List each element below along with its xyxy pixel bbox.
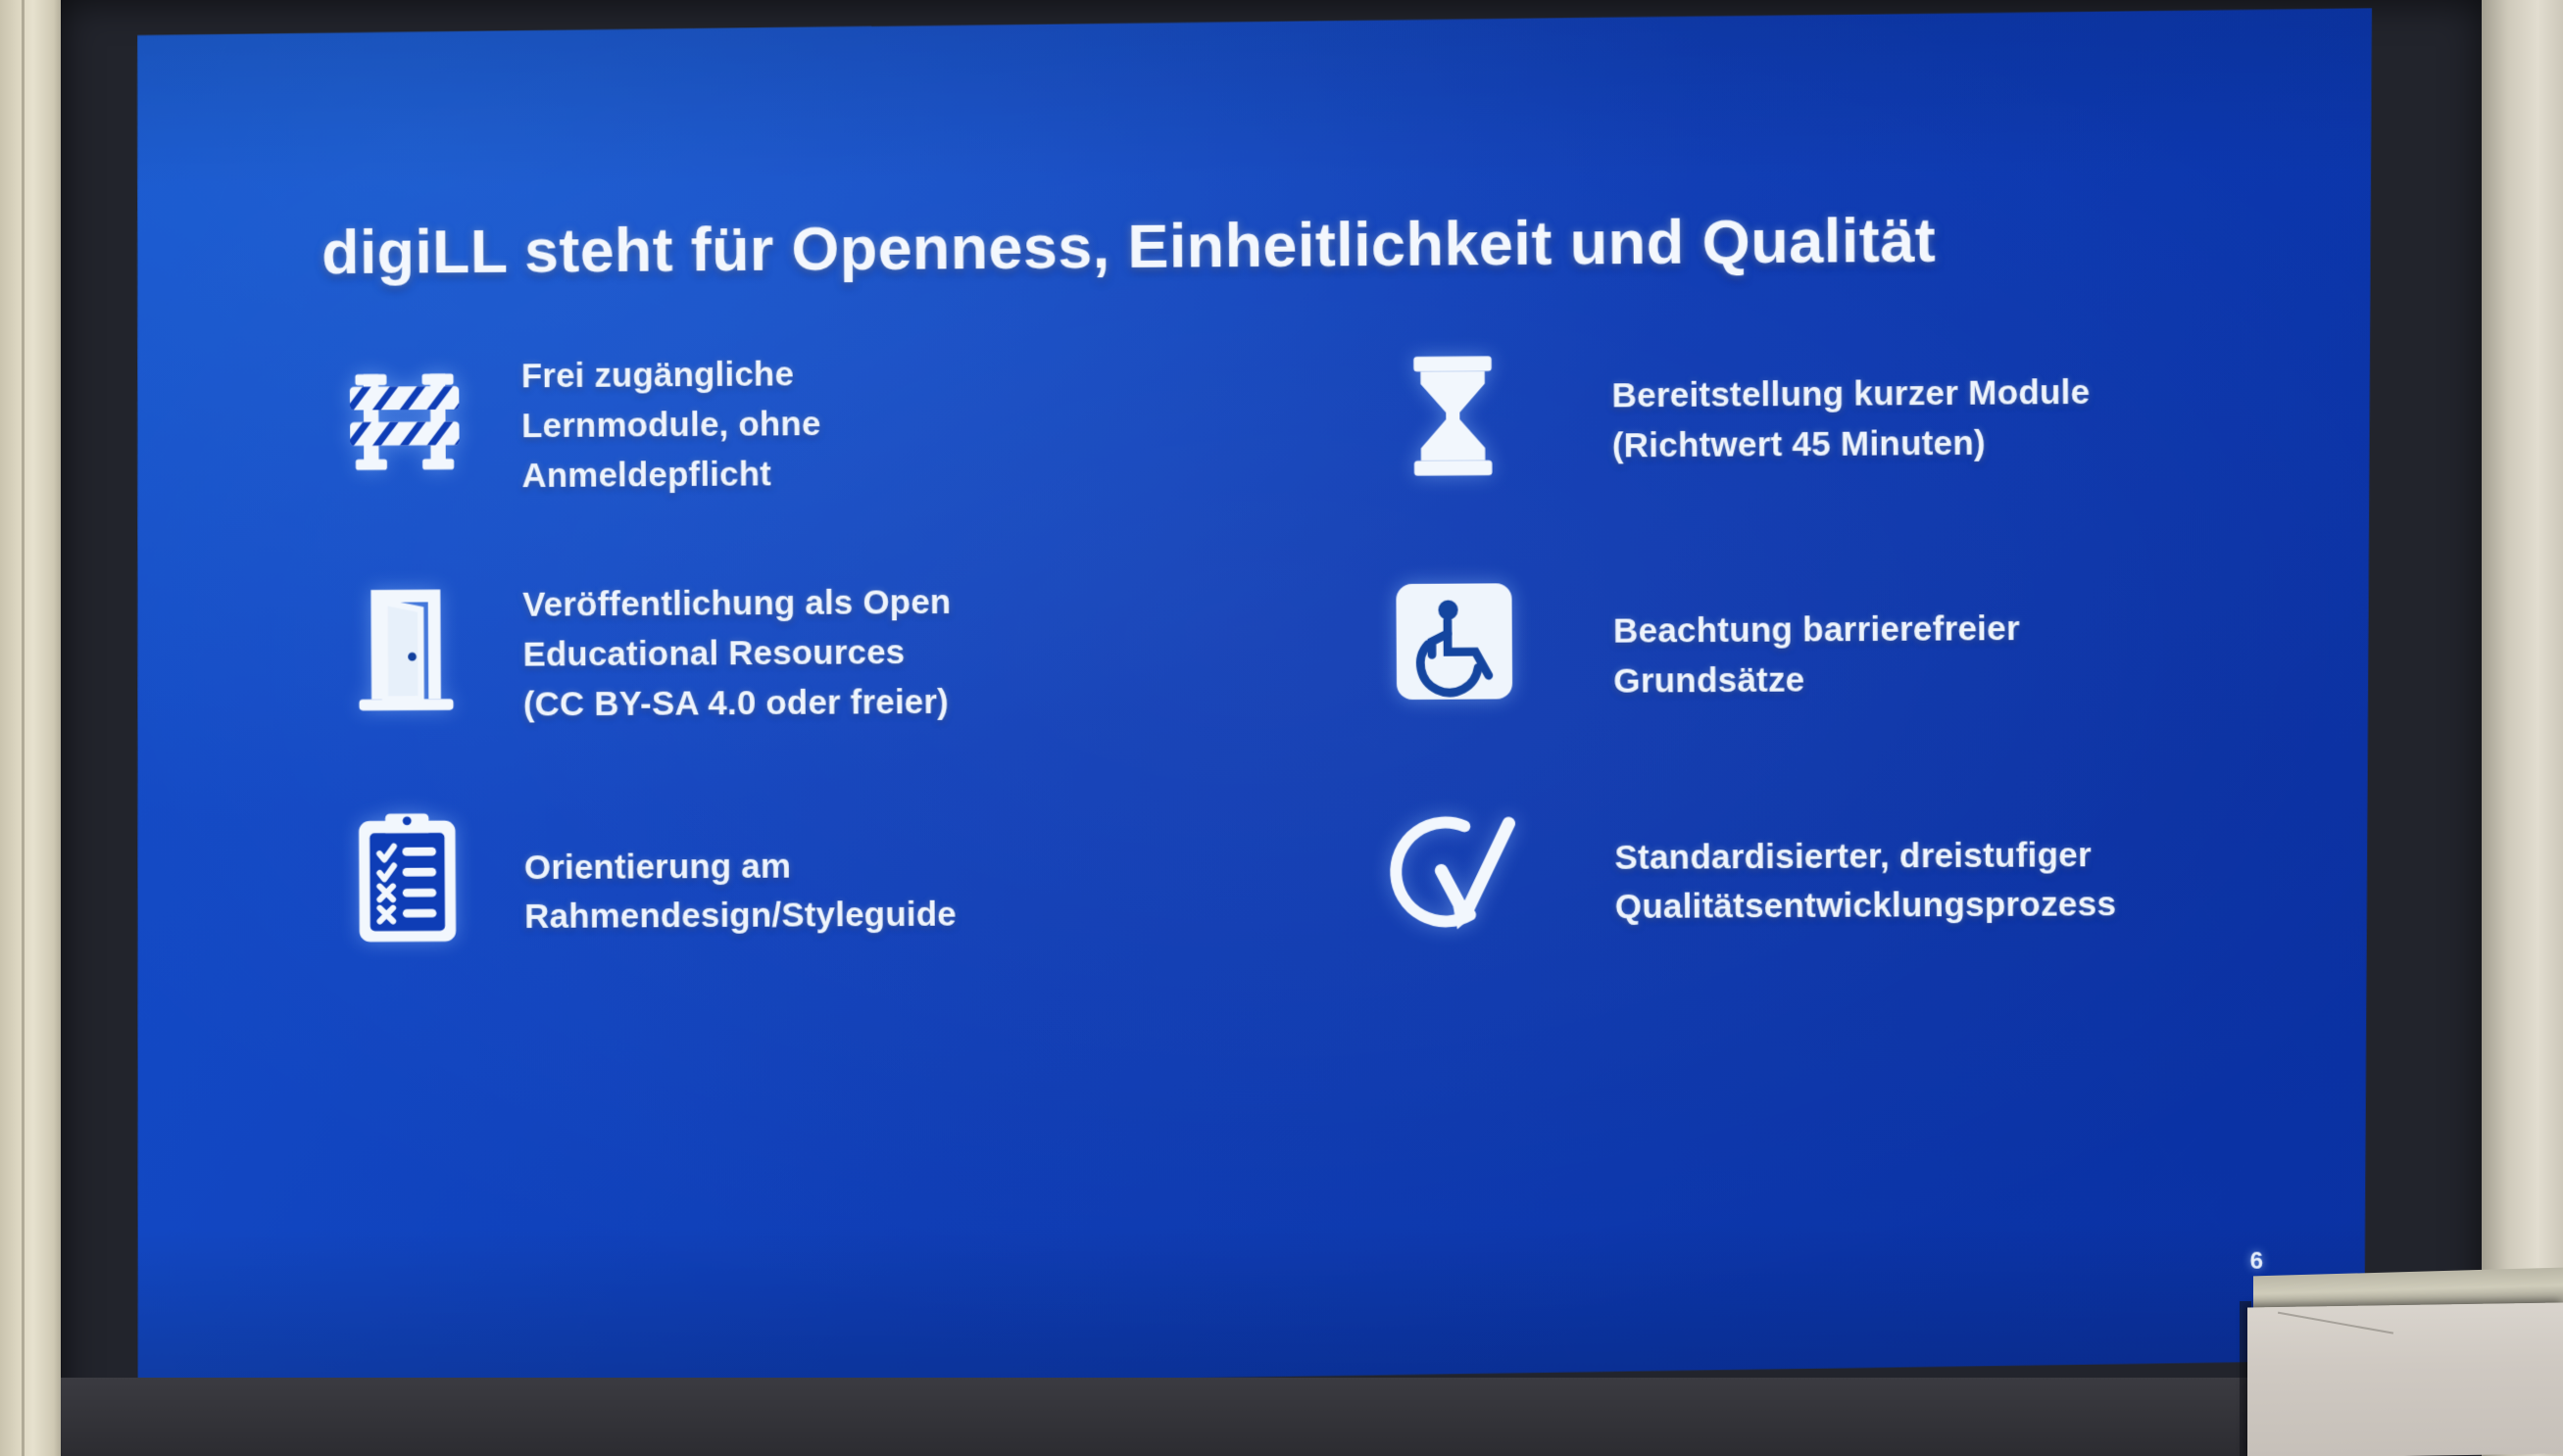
feature-line: Beachtung barrierefreier xyxy=(1613,605,2020,656)
slide-content: digiLL steht für Openness, Einheitlichke… xyxy=(129,8,2380,1393)
feature-text: Beachtung barrierefreier Grundsätze xyxy=(1613,561,2021,706)
feature-item-oer-licence: Veröffentlichung als Open Educational Re… xyxy=(279,566,1228,731)
screen-lower-shadow xyxy=(61,1378,2482,1456)
feature-line: Veröffentlichung als Open xyxy=(522,578,951,630)
room-wall-right xyxy=(2479,0,2563,1456)
feature-item-short-modules: Bereitstellung kurzer Module (Richtwert … xyxy=(1353,333,2308,495)
feature-item-accessibility: Beachtung barrierefreier Grundsätze xyxy=(1354,559,2309,725)
feature-item-open-access: Frei zugängliche Lernmodule, ohne Anmeld… xyxy=(277,341,1226,503)
projection-screen: digiLL steht für Openness, Einheitlichke… xyxy=(129,8,2380,1393)
flipchart-paper xyxy=(2247,1302,2563,1456)
cycle-check-icon xyxy=(1381,795,1531,948)
feature-text: Bereitstellung kurzer Module (Richtwert … xyxy=(1611,335,2091,471)
clipboard-checklist-icon xyxy=(333,801,482,953)
feature-line: Orientierung am xyxy=(524,841,957,893)
road-barrier-icon xyxy=(330,347,479,501)
feature-line: Educational Resources xyxy=(522,628,951,680)
feature-line: Grundsätze xyxy=(1613,655,2020,706)
slide-title: digiLL steht für Openness, Einheitlichke… xyxy=(321,206,2243,285)
feature-text: Orientierung am Rahmendesign/Styleguide xyxy=(523,798,957,943)
feature-line: (CC BY-SA 4.0 oder freier) xyxy=(523,678,952,730)
feature-item-quality-process: Standardisierter, dreistufiger Qualitäts… xyxy=(1355,790,2311,948)
hourglass-icon xyxy=(1378,339,1528,493)
feature-line: (Richtwert 45 Minuten) xyxy=(1612,418,2091,471)
room-wall-left xyxy=(0,0,61,1456)
open-door-icon xyxy=(331,571,480,725)
feature-text: Standardisierter, dreistufiger Qualitäts… xyxy=(1614,791,2116,933)
feature-line: Frei zugängliche xyxy=(521,350,821,402)
flipchart-board xyxy=(2240,1260,2563,1456)
feature-item-styleguide: Orientierung am Rahmendesign/Styleguide xyxy=(280,797,1229,954)
feature-line: Standardisierter, dreistufiger xyxy=(1614,831,2116,884)
feature-grid: Frei zugängliche Lernmodule, ohne Anmeld… xyxy=(277,333,2310,954)
feature-text: Frei zugängliche Lernmodule, ohne Anmeld… xyxy=(521,344,821,501)
feature-line: Rahmendesign/Styleguide xyxy=(524,891,957,943)
feature-text: Veröffentlichung als Open Educational Re… xyxy=(522,568,952,730)
presentation-photo-scene: digiLL steht für Openness, Einheitlichke… xyxy=(0,0,2563,1456)
feature-line: Qualitätsentwicklungsprozess xyxy=(1615,880,2117,933)
feature-line: Lernmodule, ohne xyxy=(521,400,821,452)
feature-line: Anmeldepflicht xyxy=(521,450,821,502)
feature-line: Bereitstellung kurzer Module xyxy=(1611,368,2090,421)
wheelchair-accessibility-icon xyxy=(1379,564,1529,718)
